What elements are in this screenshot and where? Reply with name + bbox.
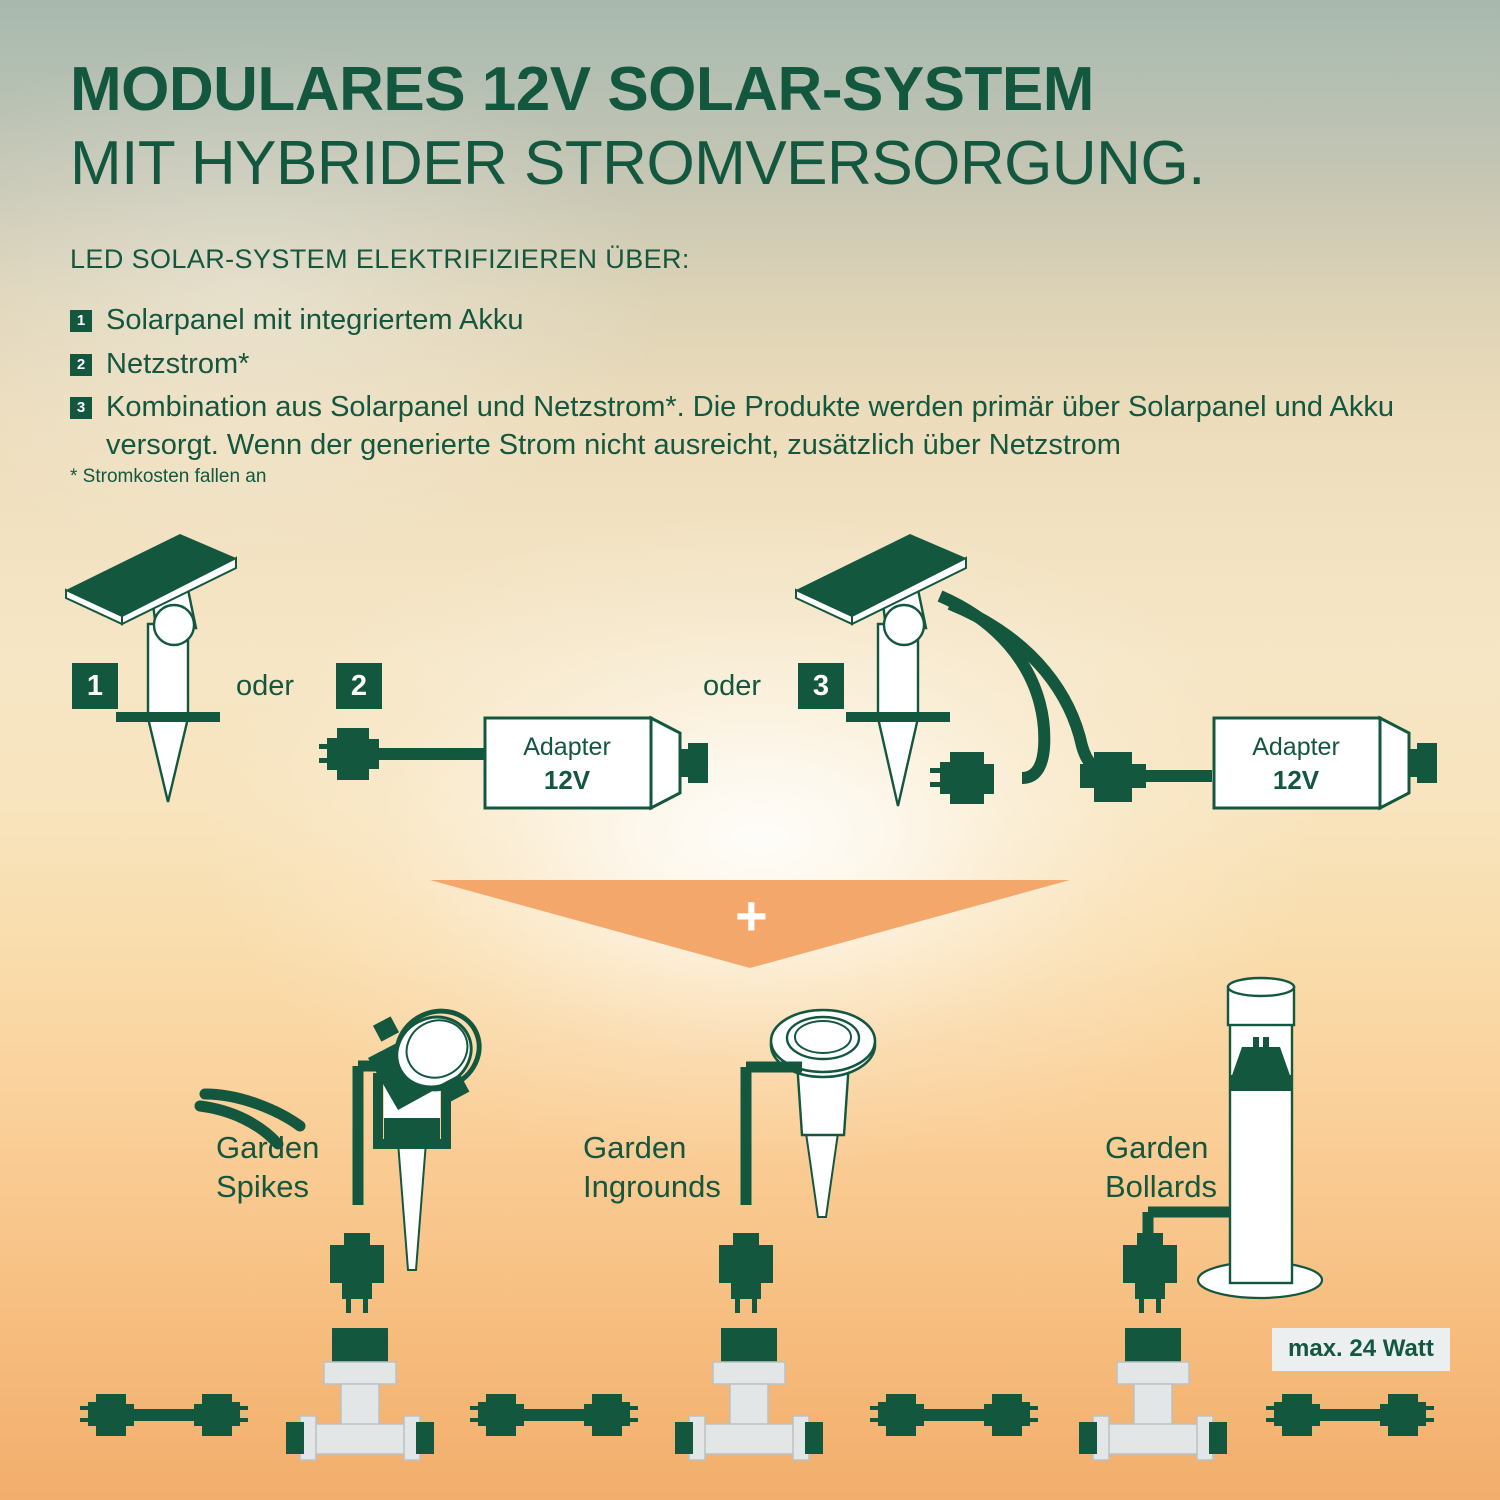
list-item: 3 Kombination aus Solarpanel und Netzstr… [70, 389, 1430, 464]
list-item: 1 Solarpanel mit integriertem Akku [70, 302, 1430, 340]
adapter-label-right-line2: 12V [1213, 765, 1379, 796]
adapter-label-right-line1: Adapter [1213, 733, 1379, 762]
or-label-1: oder [236, 670, 294, 703]
list-item: 2 Netzstrom* [70, 346, 1430, 384]
bullet-text: Netzstrom* [106, 346, 249, 384]
tee-connector-spikes [286, 1328, 436, 1458]
cable-segment-1 [80, 1390, 250, 1442]
garden-bollard-fixture [1200, 975, 1370, 1305]
footnote: * Stromkosten fallen an [70, 466, 266, 488]
product-label-ingrounds-line1: Garden [583, 1130, 686, 1165]
cable-segment-2 [470, 1390, 640, 1442]
adapter-label-left-line2: 12V [484, 765, 650, 796]
plus-symbol: + [735, 888, 768, 944]
cable-segment-3 [870, 1390, 1040, 1442]
plug-connector-ingrounds [711, 1233, 781, 1333]
product-label-spikes-line1: Garden [216, 1130, 319, 1165]
plug-connector-spikes [322, 1233, 392, 1333]
adapter-label-left-line1: Adapter [484, 733, 650, 762]
page-subtitle: LED SOLAR-SYSTEM ELEKTRIFIZIEREN ÜBER: [70, 244, 690, 275]
infographic-canvas: MODULARES 12V SOLAR-SYSTEM MIT HYBRIDER … [0, 0, 1500, 1500]
product-label-ingrounds: Garden Ingrounds [583, 1128, 721, 1206]
bullet-number-badge: 2 [70, 354, 92, 376]
product-label-bollards-line1: Garden [1105, 1130, 1208, 1165]
page-title-line2: MIT HYBRIDER STROMVERSORGUNG. [70, 128, 1205, 199]
bullet-number-badge: 1 [70, 310, 92, 332]
bullet-text: Solarpanel mit integriertem Akku [106, 302, 523, 340]
tee-connector-ingrounds [675, 1328, 825, 1458]
product-label-ingrounds-line2: Ingrounds [583, 1169, 721, 1204]
bullet-text: Kombination aus Solarpanel und Netzstrom… [106, 389, 1430, 464]
adapter-box-right: Adapter 12V [1213, 717, 1413, 809]
bullet-list: 1 Solarpanel mit integriertem Akku 2 Net… [70, 302, 1430, 471]
or-label-2: oder [703, 670, 761, 703]
bullet-number-badge: 3 [70, 397, 92, 419]
plug-connector-bollards [1115, 1233, 1185, 1333]
max-watt-badge: max. 24 Watt [1272, 1328, 1450, 1371]
option-badge-1: 1 [72, 663, 118, 709]
product-label-spikes: Garden Spikes [216, 1128, 319, 1206]
product-label-spikes-line2: Spikes [216, 1169, 309, 1204]
page-title-line1: MODULARES 12V SOLAR-SYSTEM [70, 54, 1094, 125]
tee-connector-bollards [1079, 1328, 1229, 1458]
garden-inground-fixture [740, 1005, 920, 1235]
adapter-box-left: Adapter 12V [484, 717, 684, 809]
solar-panel-spike-3 [790, 520, 1210, 820]
plug-connector-left [305, 718, 495, 808]
option-badge-2: 2 [336, 663, 382, 709]
cable-segment-4 [1266, 1390, 1436, 1442]
